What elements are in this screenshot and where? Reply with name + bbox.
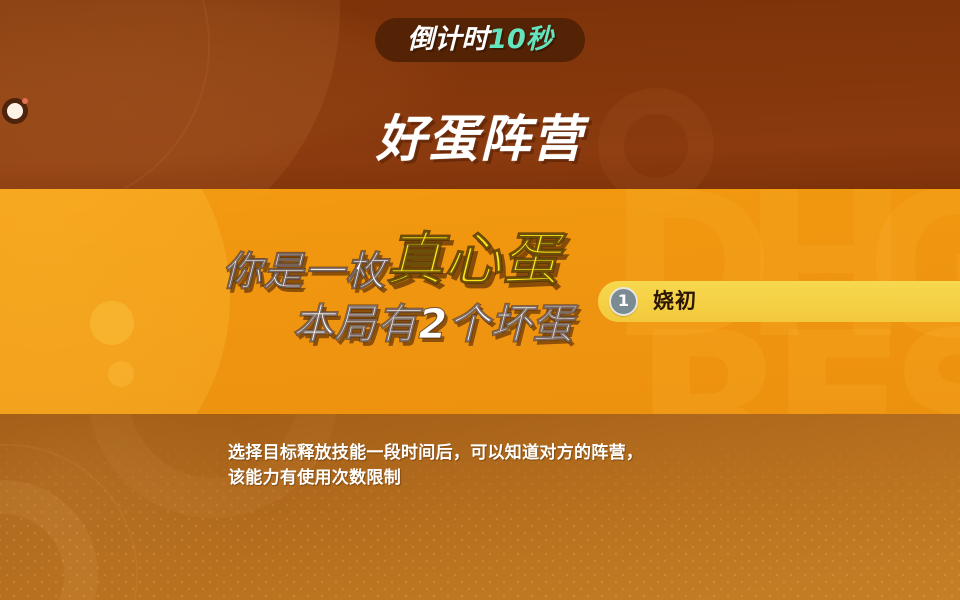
role-prefix-text: 你是一枚: [222, 249, 386, 295]
skill-description-line1: 选择目标释放技能一段时间后，可以知道对方的阵营，: [228, 441, 748, 466]
countdown-value: 10秒: [488, 24, 553, 55]
skill-description: 选择目标释放技能一段时间后，可以知道对方的阵营， 该能力有使用次数限制: [228, 441, 748, 490]
decorative-letter: R: [634, 307, 788, 414]
countdown-text: 倒计时10秒: [407, 26, 553, 53]
skill-description-line2: 该能力有使用次数限制: [228, 466, 748, 491]
role-headline-line2: 本局有2个坏蛋: [0, 304, 574, 345]
player-number-label: 1: [618, 293, 629, 309]
player-name-label: 娆初: [653, 291, 697, 312]
decorative-letter: S: [890, 307, 960, 414]
status-dot-spark-icon: [22, 98, 28, 104]
player-number-badge: 1: [609, 287, 638, 316]
role-headline-line1: 你是一枚真心蛋: [0, 232, 560, 292]
countdown-badge: 倒计时10秒: [375, 18, 585, 62]
player-entry[interactable]: 1 娆初: [598, 281, 960, 322]
decorative-letter: F: [770, 307, 907, 414]
role-reveal-screen: 倒计时10秒 好蛋阵营 D H G R F S 你是一枚真心蛋 本局有2个坏蛋 …: [0, 0, 960, 600]
decorative-circle-tiny: [108, 361, 134, 387]
countdown-label: 倒计时: [407, 24, 488, 55]
role-name-text: 真心蛋: [386, 227, 560, 293]
faction-title: 好蛋阵营: [0, 114, 960, 164]
